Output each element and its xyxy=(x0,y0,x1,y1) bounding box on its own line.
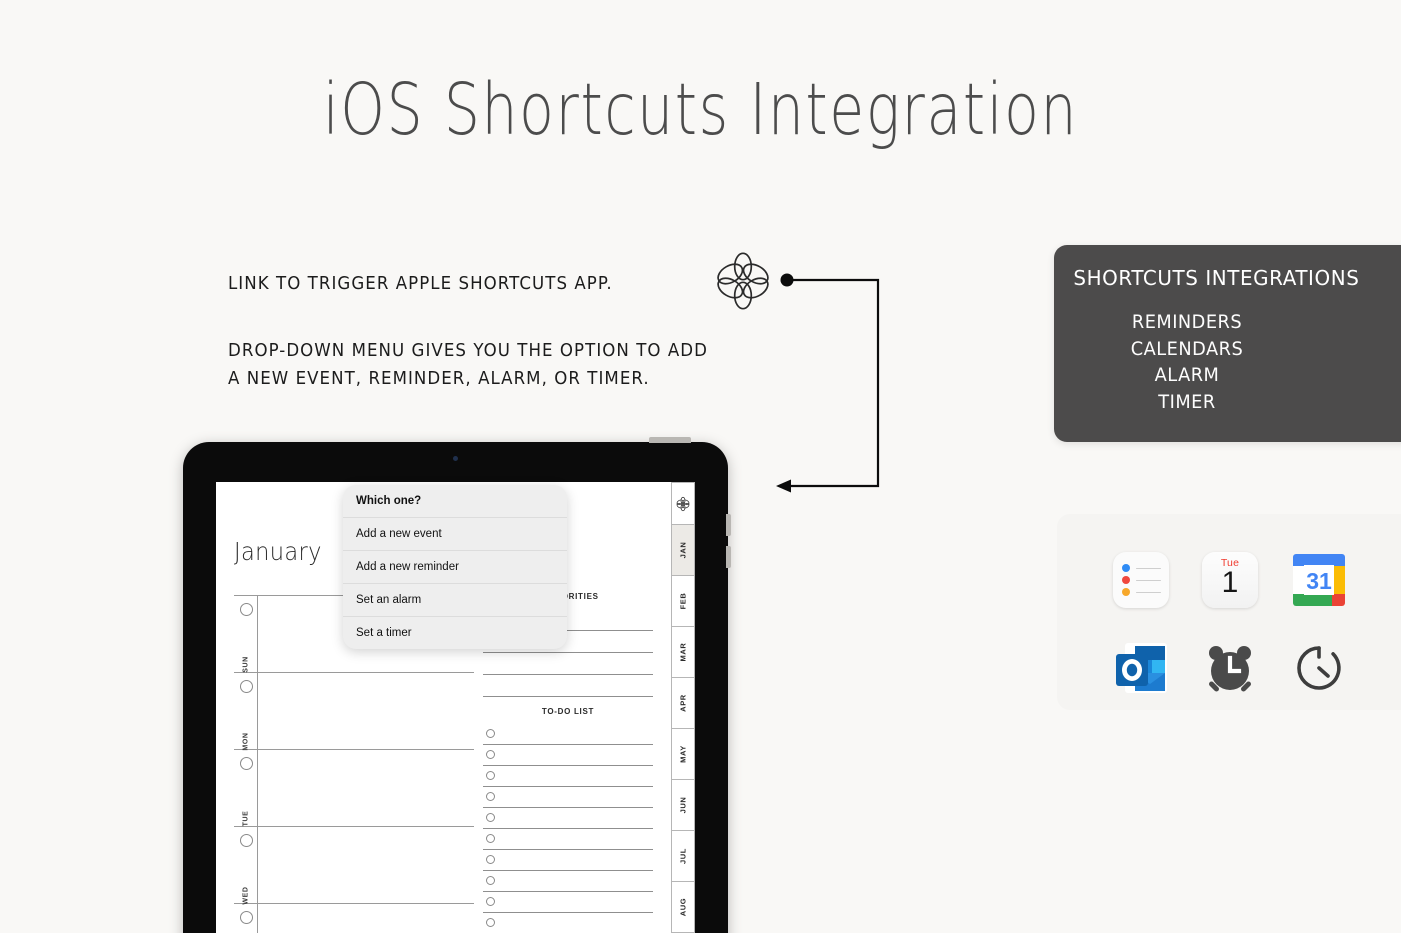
planner-day-row[interactable]: MON xyxy=(234,673,474,750)
shortcuts-card-item-reminders: REMINDERS xyxy=(1059,310,1314,337)
priority-line[interactable] xyxy=(483,675,653,697)
day-label-col: MON xyxy=(234,673,258,749)
month-tab-jul[interactable]: JUL xyxy=(671,831,695,882)
google-calendar-icon[interactable]: 31 xyxy=(1291,552,1347,608)
month-tab-mar[interactable]: MAR xyxy=(671,627,695,678)
month-tab-label: MAY xyxy=(679,745,688,763)
month-tab-may[interactable]: MAY xyxy=(671,729,695,780)
todo-checkbox[interactable] xyxy=(486,834,495,843)
todo-line[interactable] xyxy=(483,850,653,871)
timer-icon[interactable] xyxy=(1291,640,1347,696)
day-checkbox[interactable] xyxy=(240,911,253,924)
todo-line[interactable] xyxy=(483,766,653,787)
dropdown-item-set-alarm[interactable]: Set an alarm xyxy=(343,584,567,617)
todo-line[interactable] xyxy=(483,808,653,829)
month-tab-apr[interactable]: APR xyxy=(671,678,695,729)
todo-checkbox[interactable] xyxy=(486,897,495,906)
month-tab-aug[interactable]: AUG xyxy=(671,882,695,933)
tablet-camera xyxy=(453,456,458,461)
callout-connector-arrow xyxy=(770,262,900,502)
todo-title: TO-DO LIST xyxy=(483,707,653,716)
shortcuts-card-list: REMINDERS CALENDARS ALARM TIMER xyxy=(1054,310,1401,416)
alarm-clock-icon[interactable] xyxy=(1202,640,1258,696)
month-tabs: JAN FEB MAR APR MAY JUN JUL AUG xyxy=(671,482,695,933)
shortcuts-card-item-timer: TIMER xyxy=(1059,390,1314,417)
dropdown-item-set-timer[interactable]: Set a timer xyxy=(343,617,567,649)
todo-checkbox[interactable] xyxy=(486,876,495,885)
month-tab-label: JUN xyxy=(679,797,688,814)
day-label-col: SUN xyxy=(234,596,258,672)
day-checkbox[interactable] xyxy=(240,680,253,693)
todo-checkbox[interactable] xyxy=(486,792,495,801)
apple-reminders-icon[interactable] xyxy=(1113,552,1169,608)
flower-icon xyxy=(676,496,691,511)
volume-up-button[interactable] xyxy=(726,514,731,536)
todo-line[interactable] xyxy=(483,787,653,808)
apple-calendar-icon[interactable]: Tue 1 xyxy=(1202,552,1258,608)
planner-day-row[interactable]: THU xyxy=(234,904,474,933)
shortcuts-card-item-alarm: ALARM xyxy=(1059,363,1314,390)
planner-day-row[interactable]: WED xyxy=(234,827,474,904)
month-tab-label: APR xyxy=(679,694,688,712)
app-icons-grid: Tue 1 31 xyxy=(1097,536,1363,712)
todo-block: TO-DO LIST xyxy=(483,707,653,933)
shortcuts-integrations-card: SHORTCUTS INTEGRATIONS REMINDERS CALENDA… xyxy=(1054,245,1401,442)
caption-line-3: A NEW EVENT, REMINDER, ALARM, OR TIMER. xyxy=(228,369,650,389)
month-tab-label: JAN xyxy=(679,542,688,559)
todo-line[interactable] xyxy=(483,871,653,892)
page-root: iOS Shortcuts Integration LINK TO TRIGGE… xyxy=(0,0,1401,933)
day-checkbox[interactable] xyxy=(240,757,253,770)
todo-checkbox[interactable] xyxy=(486,771,495,780)
dropdown-header: Which one? xyxy=(343,485,567,518)
month-tab-label: AUG xyxy=(679,898,688,916)
flower-icon xyxy=(712,252,774,310)
power-button[interactable] xyxy=(649,437,691,443)
shortcuts-card-title: SHORTCUTS INTEGRATIONS xyxy=(1054,266,1401,290)
outlook-icon[interactable] xyxy=(1113,640,1169,696)
volume-down-button[interactable] xyxy=(726,546,731,568)
caption-line-2: DROP-DOWN MENU GIVES YOU THE OPTION TO A… xyxy=(228,341,708,361)
month-tab-feb[interactable]: FEB xyxy=(671,576,695,627)
apple-calendar-date: 1 xyxy=(1202,567,1258,598)
app-icons-panel: Tue 1 31 xyxy=(1057,514,1401,710)
month-tab-label: FEB xyxy=(679,593,688,610)
todo-checkbox[interactable] xyxy=(486,813,495,822)
day-label-col: WED xyxy=(234,827,258,903)
month-tab-label: MAR xyxy=(679,643,688,662)
todo-checkbox[interactable] xyxy=(486,729,495,738)
todo-line[interactable] xyxy=(483,745,653,766)
day-label-col: TUE xyxy=(234,750,258,826)
day-checkbox[interactable] xyxy=(240,834,253,847)
todo-line[interactable] xyxy=(483,829,653,850)
planner-month-title: January xyxy=(234,537,322,566)
page-title: iOS Shortcuts Integration xyxy=(140,68,1261,151)
month-tab-jan[interactable]: JAN xyxy=(671,525,695,576)
todo-checkbox[interactable] xyxy=(486,918,495,927)
day-checkbox[interactable] xyxy=(240,603,253,616)
dropdown-item-add-reminder[interactable]: Add a new reminder xyxy=(343,551,567,584)
shortcuts-tab-button[interactable] xyxy=(671,482,695,525)
day-content[interactable] xyxy=(258,673,474,749)
todo-checkbox[interactable] xyxy=(486,855,495,864)
caption-line-1: LINK TO TRIGGER APPLE SHORTCUTS APP. xyxy=(228,274,613,294)
priority-line[interactable] xyxy=(483,653,653,675)
day-content[interactable] xyxy=(258,827,474,903)
todo-line[interactable] xyxy=(483,892,653,913)
shortcuts-dropdown-menu[interactable]: Which one? Add a new event Add a new rem… xyxy=(343,485,567,649)
planner-day-row[interactable]: TUE xyxy=(234,750,474,827)
google-calendar-date: 31 xyxy=(1306,568,1332,594)
month-tab-label: JUL xyxy=(679,848,688,864)
day-content[interactable] xyxy=(258,904,474,933)
day-content[interactable] xyxy=(258,750,474,826)
todo-line[interactable] xyxy=(483,913,653,933)
todo-checkbox[interactable] xyxy=(486,750,495,759)
month-tab-jun[interactable]: JUN xyxy=(671,780,695,831)
day-label-col: THU xyxy=(234,904,258,933)
dropdown-item-add-event[interactable]: Add a new event xyxy=(343,518,567,551)
shortcuts-card-item-calendars: CALENDARS xyxy=(1059,337,1314,364)
todo-line[interactable] xyxy=(483,724,653,745)
